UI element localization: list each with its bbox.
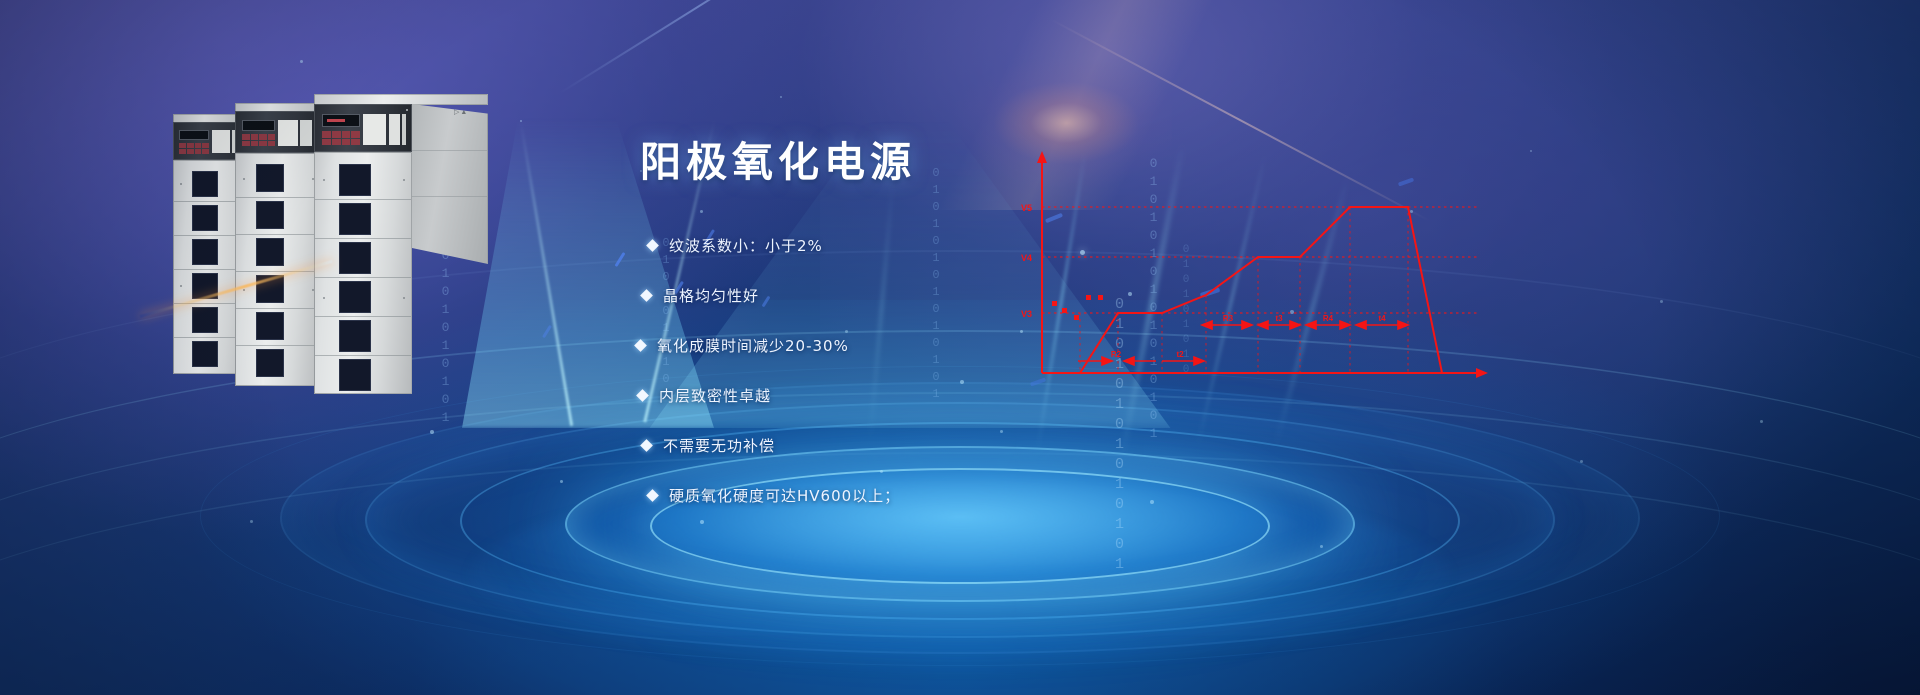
- level-gridlines: [1042, 207, 1480, 313]
- diamond-marker-icon: [636, 389, 649, 402]
- interval-label-r4: R4: [1323, 314, 1334, 323]
- accent-streak: [614, 252, 625, 267]
- sample-markers: [1052, 295, 1103, 320]
- waveform-svg: V5 V4 V3 R3 t3 R4 t: [1010, 145, 1510, 400]
- interval-label-t4: t4: [1378, 314, 1386, 323]
- axes: [1042, 159, 1480, 373]
- vent-panel: [256, 164, 284, 192]
- y-axis-arrowhead: [1037, 151, 1047, 163]
- cabinet-middle-body: [235, 153, 321, 386]
- particle: [1760, 420, 1763, 423]
- accent-streak: [542, 325, 552, 338]
- power-cabinets: ▷▲: [168, 84, 488, 394]
- vent-panel: [192, 341, 218, 367]
- banner-stage: 01010101010101 010101010 01010101010101 …: [0, 0, 1920, 695]
- particle: [1320, 545, 1323, 548]
- particle: [780, 96, 782, 98]
- vent-panel: [339, 359, 371, 391]
- y-tick-label-v3: V3: [1021, 309, 1032, 319]
- list-item-label: 晶格均匀性好: [663, 285, 759, 306]
- vent-panel: [256, 275, 284, 303]
- x-axis-arrowhead: [1476, 368, 1488, 378]
- vent-panel: [192, 171, 218, 197]
- lens-flare-ray-secondary: [559, 0, 840, 94]
- display-screen: [322, 114, 360, 127]
- cabinet-middle: [235, 103, 321, 386]
- diamond-marker-icon: [634, 339, 647, 352]
- particle: [1530, 150, 1532, 152]
- particle: [1660, 300, 1663, 303]
- display-screen: [242, 120, 275, 131]
- label-card-2: [389, 114, 400, 145]
- waveform-diagram: V5 V4 V3 R3 t3 R4 t: [1010, 145, 1510, 400]
- vent-panel: [192, 273, 218, 299]
- label-card-1: [278, 120, 298, 146]
- cabinet-middle-control-head: [235, 111, 321, 153]
- vent-panel: [256, 349, 284, 377]
- vent-panel: [256, 312, 284, 340]
- keypad[interactable]: [242, 134, 275, 146]
- time-gridlines: [1080, 207, 1408, 373]
- interval-label-r3: R3: [1223, 314, 1234, 323]
- interval-label-r2: R2: [1111, 350, 1122, 359]
- interval-markers-lower: [1078, 357, 1204, 365]
- list-item-label: 纹波系数小：小于2%: [669, 235, 823, 256]
- vent-panel: [192, 239, 218, 265]
- list-item: 硬质氧化硬度可达HV600以上；: [648, 483, 1160, 507]
- interval-label-t2: t2: [1176, 350, 1184, 359]
- cabinet-right-side-face: ▷▲: [412, 104, 488, 264]
- diamond-marker-icon: [646, 239, 659, 252]
- list-item-label: 硬质氧化硬度可达HV600以上；: [669, 485, 900, 506]
- particle: [520, 120, 522, 122]
- list-item-label: 不需要无功补偿: [663, 435, 775, 456]
- diamond-marker-icon: [640, 289, 653, 302]
- cabinet-right: ▷▲: [314, 94, 412, 394]
- label-card-1: [363, 114, 386, 145]
- list-item-label: 内层致密性卓越: [659, 385, 771, 406]
- list-item-label: 氧化成膜时间减少20-30%: [657, 335, 849, 356]
- diamond-marker-icon: [646, 489, 659, 502]
- vent-panel: [339, 281, 371, 313]
- vent-panel: [192, 205, 218, 231]
- particle: [250, 520, 253, 523]
- y-tick-label-v5: V5: [1021, 203, 1032, 213]
- label-card-1: [212, 130, 230, 153]
- particle: [560, 480, 563, 483]
- brand-mark: ▷▲: [454, 108, 468, 116]
- waveform-trace: [1042, 207, 1442, 373]
- meter-panel: [300, 120, 312, 146]
- vent-panel: [256, 201, 284, 229]
- particle: [430, 430, 434, 434]
- cabinet-right-control-head: [314, 104, 412, 152]
- light-beam-edge-left: [519, 120, 573, 426]
- particle: [300, 60, 303, 63]
- particle: [1580, 460, 1583, 463]
- list-item: 不需要无功补偿: [642, 433, 1160, 457]
- keypad[interactable]: [322, 131, 360, 145]
- cabinet-right-body: [314, 152, 412, 394]
- keypad[interactable]: [179, 143, 209, 154]
- vent-panel: [192, 307, 218, 333]
- display-screen: [179, 130, 209, 140]
- interval-label-t3: t3: [1275, 314, 1283, 323]
- vent-panel: [339, 203, 371, 235]
- diamond-marker-icon: [640, 439, 653, 452]
- vent-panel: [339, 242, 371, 274]
- y-tick-label-v4: V4: [1021, 253, 1032, 263]
- meter-panel: [402, 114, 406, 145]
- vent-panel: [256, 238, 284, 266]
- vent-panel: [339, 320, 371, 352]
- vent-panel: [339, 164, 371, 196]
